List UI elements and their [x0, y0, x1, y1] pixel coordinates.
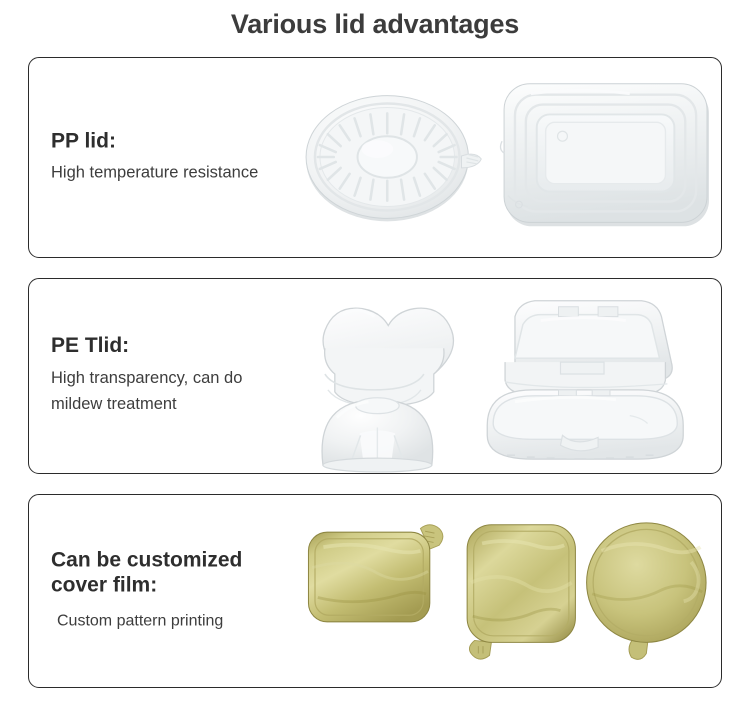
panel-pp-lid: PP lid: High temperature resistance: [28, 57, 722, 258]
oval-flat-lid-image: [487, 390, 683, 459]
round-dome-cup-lid-image: [322, 398, 433, 472]
round-ribbed-pp-lid-image: [306, 96, 481, 222]
panel-cover-film-text: Can be customized cover film: Custom pat…: [51, 548, 341, 633]
page-title: Various lid advantages: [0, 9, 750, 40]
panel-pe-lid-heading: PE Tlid:: [51, 334, 341, 359]
heart-shaped-dome-lid-image: [323, 308, 453, 408]
panel-pp-lid-images: [301, 58, 721, 257]
square-dome-lid-image: [505, 301, 672, 396]
panel-pe-lid: PE Tlid: High transparency, can do milde…: [28, 278, 722, 474]
gold-square-cover-film-image: [467, 525, 575, 659]
panel-pe-lid-text: PE Tlid: High transparency, can do milde…: [51, 334, 341, 418]
panel-cover-film-description: Custom pattern printing: [51, 608, 341, 634]
panel-cover-film-images: [301, 495, 721, 687]
panel-cover-film-heading: Can be customized cover film:: [51, 548, 341, 598]
gold-rectangular-cover-film-image: [308, 525, 442, 622]
rectangular-pp-lid-image: [501, 84, 710, 227]
panel-pe-lid-images: [301, 279, 721, 473]
panel-pp-lid-description: High temperature resistance: [51, 160, 341, 187]
panel-pp-lid-text: PP lid: High temperature resistance: [51, 129, 341, 186]
panel-cover-film: Can be customized cover film: Custom pat…: [28, 494, 722, 688]
panel-pp-lid-heading: PP lid:: [51, 129, 341, 154]
panel-pe-lid-description: High transparency, can do mildew treatme…: [51, 365, 341, 418]
gold-round-cover-film-image: [587, 523, 706, 660]
